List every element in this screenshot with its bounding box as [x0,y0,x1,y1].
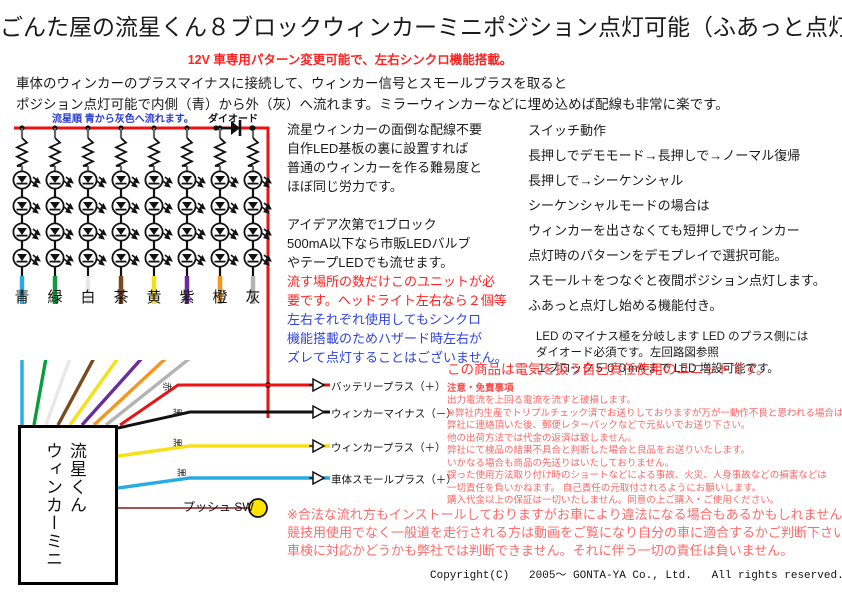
subtitle-red-text: 12V 車専用パターン変更可能で、左右シンクロ機能搭載。 [0,49,700,68]
terminal-label: バッテリープラス（＋） [331,379,446,394]
center-text-line: 要です。ヘッドライト左右なら２個等 [287,291,507,310]
unit-box-label-model: ウィンカーミニ [40,442,65,568]
center-text-line: 500mA以下なら市販LEDバルブ [287,234,470,253]
terminal-arrow [308,470,326,486]
wire-color-letter: 灰 [244,286,262,307]
terminal-arrow [308,377,326,393]
center-text-line: やテープLEDでも流せます。 [287,253,453,272]
right-text-line: スモール＋をつなぐと夜間ポジション点灯します。 [528,270,826,289]
bottom-notice-line: 車検に対応かどうかも弊社では判断できません。それに伴う一切の責任は負いません。 [287,540,793,559]
terminal-label: ウィンカープラス（＋） [331,440,446,455]
unit-box-label-product: 流星くん [64,442,89,514]
terminal-arrow [308,404,326,420]
right-text-line: 点灯時のパターンをデモプレイで選択可能。 [528,245,787,264]
center-text-line: 流星ウィンカーの面倒な配線不要 [287,120,482,139]
wire-color-letter: 茶 [112,286,130,307]
wire-mini-label: 黒 [171,408,184,417]
terminal-arrow [308,438,326,454]
center-text-line: 流す場所の数だけこのユニットが必 [287,272,495,291]
wire-color-letter: 紫 [178,286,196,307]
intro-line-1: 車体のウィンカーのプラスマイナスに接続して、ウィンカー信号とスモールプラスを取る… [16,72,567,92]
right-text-line: シーケンシャルモードの場合は [528,195,710,214]
right-text-line: 長押しで→シーケンシャル [528,170,683,189]
center-text-line: 普通のウィンカーを作る難易度と [287,158,482,177]
center-text-line: アイデア次第で1ブロック [287,215,437,234]
push-sw-label: プッシュ SW [183,498,254,515]
center-text-line: 左右それぞれ使用してもシンクロ [287,310,481,329]
wire-color-letter: 緑 [46,286,64,307]
right-text-line: スイッチ動作 [528,120,606,139]
center-text-line: 機能搭載のためハザード時左右が [287,329,482,348]
bottom-notice-line: ※合法な流れ方もインストールしておりますがお車により違法になる場合もあるかもしれ… [287,504,842,523]
right-text-line: LED のマイナス極を分岐します LED のプラス側には [536,328,808,344]
right-text-line: ふあっと点灯し始める機能付き。 [528,295,722,314]
wire-color-letter: 黄 [145,286,163,307]
page-title: ごんた屋の流星くん８ブロックウィンカーミニポジション点灯可能（ふあっと点灯） [0,8,842,42]
copyright-text: Copyright(C) 2005〜 GONTA-YA Co., Ltd. Al… [430,566,842,582]
wire-color-letter: 白 [79,286,97,307]
warning-heading: この商品は電気を扱う自己責任使用のユニットです。 [447,358,770,378]
bottom-notice-line: 競技用使用でなく一般道を走行される方は動画をご覧になり自分の車に適合するかご判断… [287,522,842,541]
wire-mini-label: 黒 [175,468,188,477]
terminal-label: ウィンカーマイナス（－） [331,406,457,421]
wire-mini-label: 赤 [161,382,174,391]
wire-color-letter: 橙 [211,286,229,307]
right-text-line: ウィンカーを出さなくても短押しでウィンカー [528,220,800,239]
wire-mini-label: 黒 [171,438,184,447]
wire-color-letter: 青 [13,286,31,307]
right-text-line: 長押しでデモモード→長押しで→ノーマル復帰 [528,145,800,164]
center-text-line: 自作LED基板の裏に設置すれば [287,139,468,158]
center-text-line: ほぼ同じ労力です。 [287,177,403,196]
terminal-label: 車体スモールプラス（＋） [331,472,457,487]
